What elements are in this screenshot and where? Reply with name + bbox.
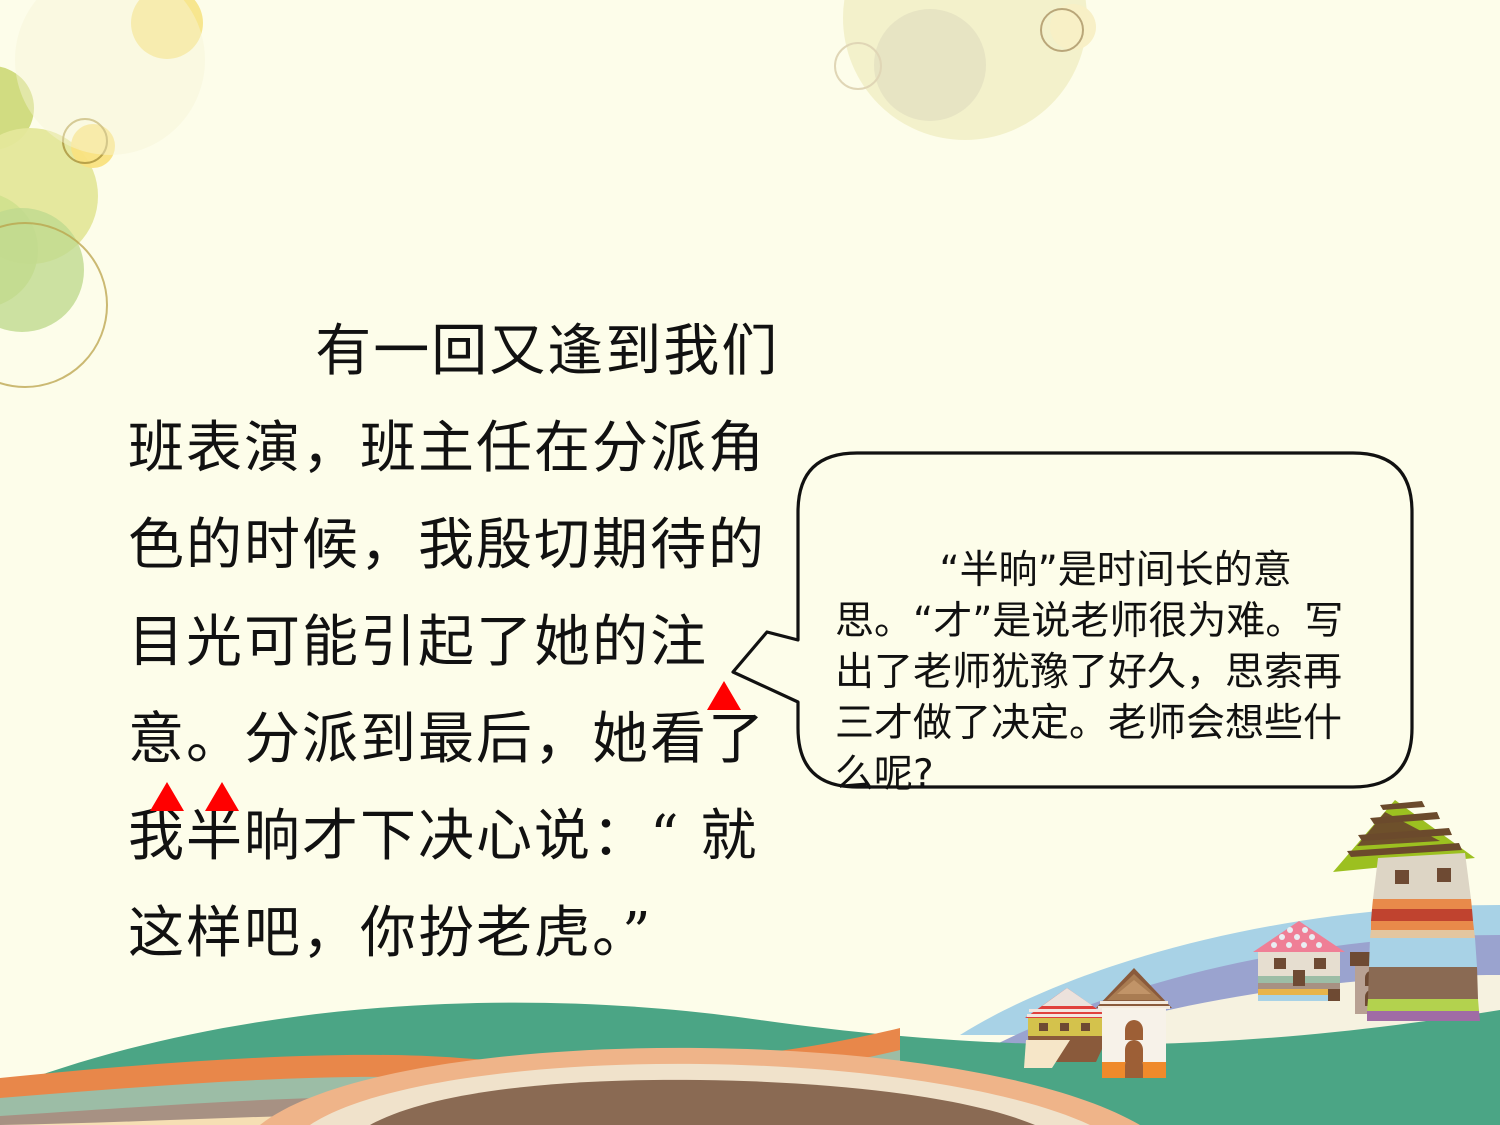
- house-pink-dots: [1253, 921, 1345, 1001]
- annotation-callout[interactable]: “半晌”是时间长的意思。“才”是说老师很为难。写出了老师犹豫了好久，思索再三才做…: [797, 452, 1413, 788]
- house-grey-windows: [1350, 952, 1410, 1014]
- circle-yellow-top: [131, 0, 203, 59]
- callout-body: “半晌”是时间长的意思。“才”是说老师很为难。写出了老师犹豫了好久，思索再三才做…: [835, 548, 1343, 797]
- callout-text: “半晌”是时间长的意思。“才”是说老师很为难。写出了老师犹豫了好久，思索再三才做…: [835, 494, 1380, 851]
- passage-text: 有一回又逢到我们班表演，班主任在分派角色的时候，我殷切期待的目光可能引起了她的注…: [128, 319, 779, 966]
- hill-periwinkle: [985, 935, 1500, 1050]
- circle-outline-left: [835, 43, 881, 89]
- slide-canvas: 有一回又逢到我们班表演，班主任在分派角色的时候，我殷切期待的目光可能引起了她的注…: [0, 0, 1500, 1125]
- hill-sand: [0, 1094, 920, 1125]
- circle-cream-right: [1050, 4, 1096, 50]
- circle-pale-wash: [15, 0, 205, 155]
- hill-cream-gap: [960, 975, 1500, 1080]
- house-red-stripe: [1024, 988, 1110, 1068]
- circle-green-mid: [0, 208, 84, 332]
- main-passage: 有一回又逢到我们班表演，班主任在分派角色的时候，我殷切期待的目光可能引起了她的注…: [128, 206, 788, 1079]
- circle-outline-small: [63, 119, 107, 163]
- circle-pale-large: [843, 0, 1087, 140]
- red-triangle-marker-shang: [150, 782, 184, 811]
- circle-grey-olive: [874, 9, 986, 121]
- hill-lime: [1240, 940, 1500, 1060]
- hill-skyblue: [960, 905, 1500, 1035]
- circle-yellow-small: [71, 124, 115, 168]
- circle-outline-large: [0, 223, 107, 387]
- hill-brown: [370, 1080, 1035, 1125]
- red-triangle-marker-ban: [707, 681, 741, 710]
- circle-olive-dark: [0, 66, 34, 150]
- circle-green-soft: [0, 192, 38, 308]
- red-triangle-marker-cai: [205, 782, 239, 811]
- hill-cream: [1090, 905, 1500, 1125]
- house-brown-cone: [1096, 968, 1172, 1078]
- circle-olive-large: [0, 128, 98, 264]
- circle-outline-right: [1041, 9, 1083, 51]
- hill-taupe: [0, 1072, 905, 1125]
